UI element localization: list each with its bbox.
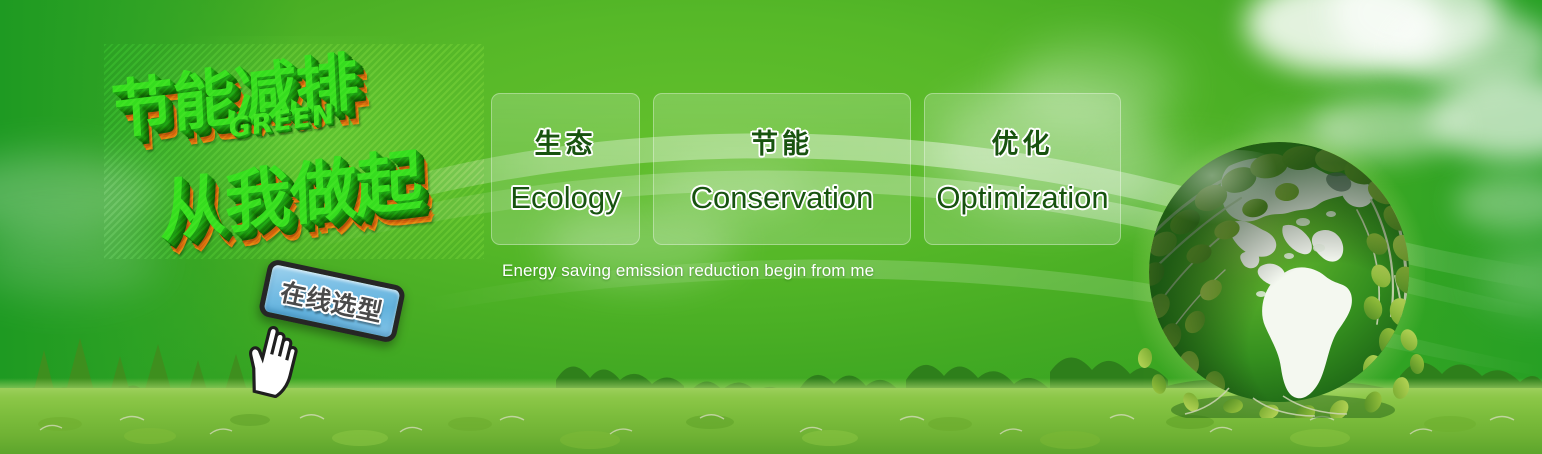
feature-card-optimization-cn: 优化 [992, 122, 1054, 161]
headline-line-2: 从我做起 [157, 126, 422, 255]
feature-card-ecology[interactable]: 生态 Ecology [491, 93, 640, 245]
feature-card-conservation-en: Conservation [691, 180, 874, 216]
hand-pointer-cursor-icon [241, 318, 315, 398]
feature-card-group: 生态 Ecology 节能 Conservation 优化 Optimizati… [491, 93, 1121, 245]
feature-card-conservation-cn: 节能 [751, 122, 813, 161]
feature-card-ecology-en: Ecology [510, 180, 620, 216]
feature-card-ecology-cn: 生态 [535, 122, 597, 161]
feature-card-optimization-en: Optimization [936, 180, 1108, 216]
green-leaf-globe-icon [1133, 126, 1425, 418]
feature-card-conservation[interactable]: 节能 Conservation [653, 93, 911, 245]
eco-hero-banner: 节能减排 GREEN 从我做起 在线选型 生态 Ecology 节能 Conse… [0, 0, 1542, 454]
feature-card-optimization[interactable]: 优化 Optimization [924, 93, 1121, 245]
headline-3d-logo: 节能减排 GREEN 从我做起 [104, 44, 484, 259]
tagline-text: Energy saving emission reduction begin f… [502, 261, 874, 281]
